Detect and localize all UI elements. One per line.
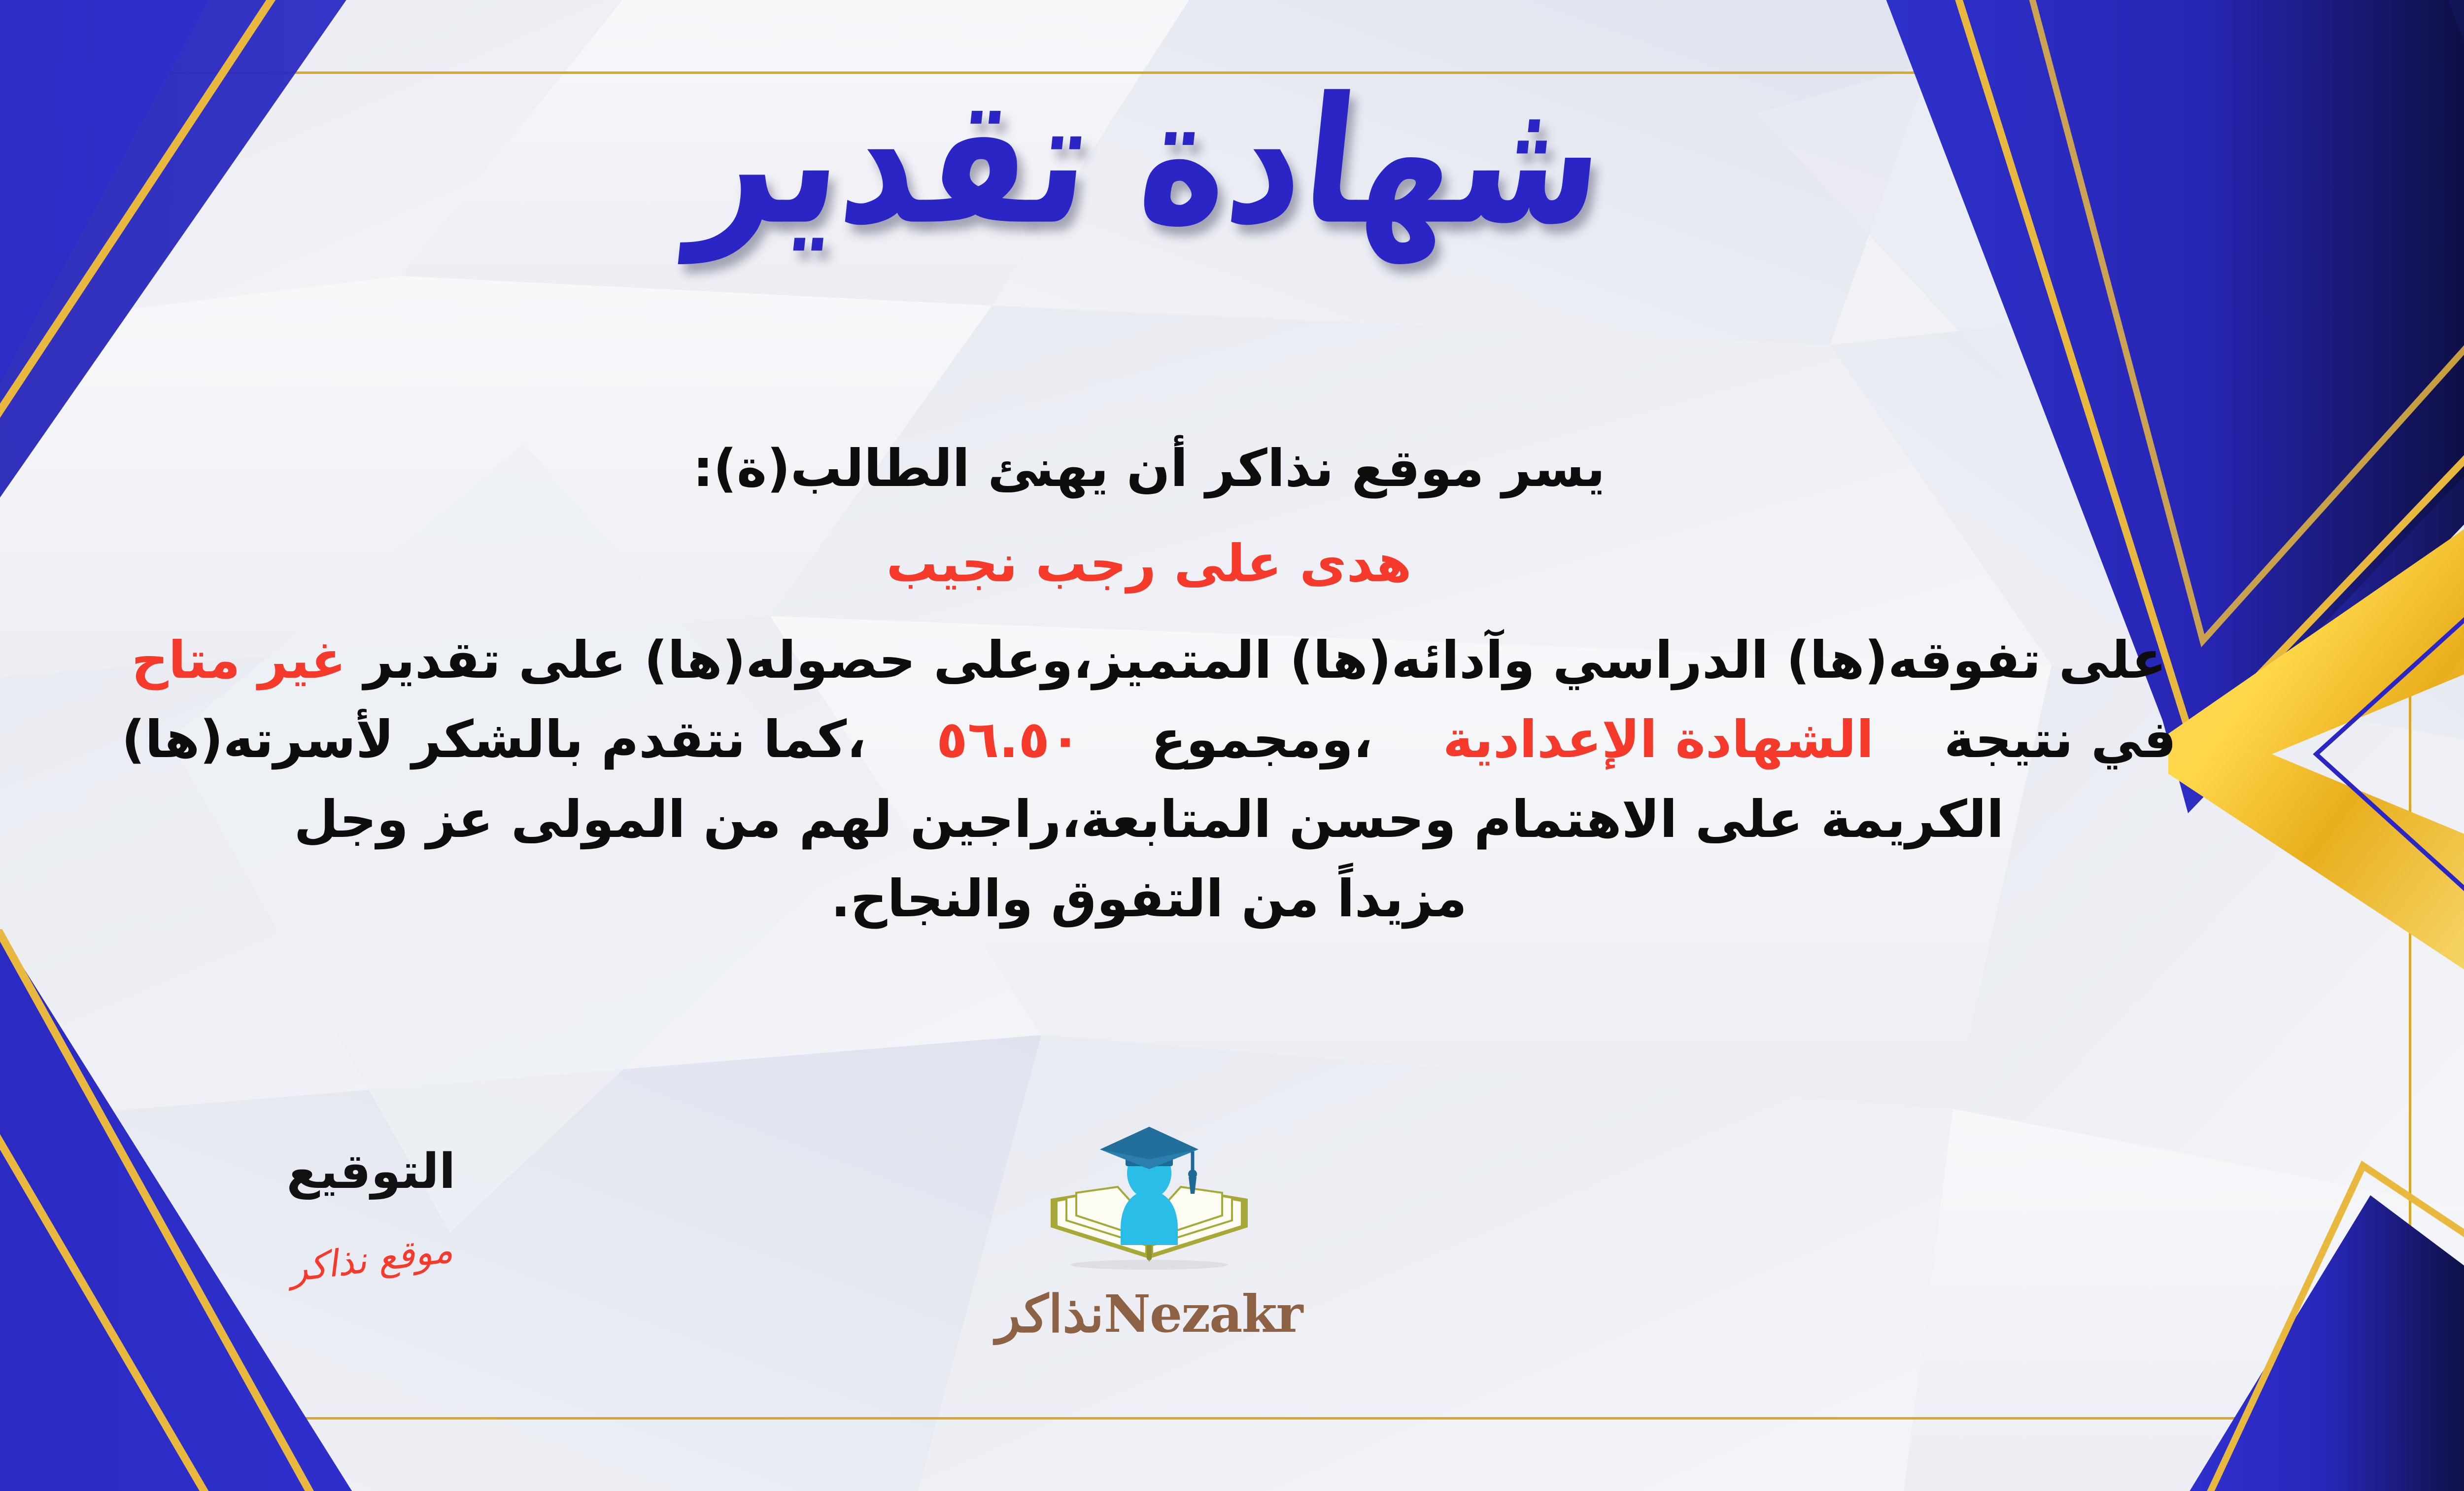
student-name: هدى على رجب نجيب: [0, 525, 2390, 602]
site-logo: Nezakrنذاكر: [0, 1124, 2464, 1344]
intro-line: يسر موقع نذاكر أن يهنئ الطالب(ة):: [0, 429, 2390, 508]
graduation-book-logo-icon: [1036, 1124, 1263, 1286]
grade-value: غير متاح: [132, 630, 346, 690]
certificate-canvas: شهادة تقدير يسر موقع نذاكر أن يهنئ الطال…: [0, 0, 2464, 1491]
logo-latin-name: Nezakr: [1104, 1283, 1302, 1344]
total-score-value: ٥٦.٥٠: [936, 709, 1081, 769]
exam-name-value: الشهادة الإعدادية: [1443, 709, 1874, 769]
total-label: ،ومجموع: [1151, 709, 1372, 769]
logo-arabic-name: نذاكر: [996, 1283, 1104, 1344]
certificate-body: يسر موقع نذاكر أن يهنئ الطالب(ة): هدى عل…: [0, 429, 2390, 938]
citation-line-2: في نتيجة الشهادة الإعدادية ،ومجموع ٥٦.٥٠…: [0, 700, 2390, 779]
exam-prefix-label: في نتيجة: [1944, 709, 2177, 769]
citation-line-3: الكريمة على الاهتمام وحسن المتابعة،راجين…: [0, 780, 2390, 859]
page-title: شهادة تقدير: [685, 70, 1612, 253]
citation-paragraph: على تفوقه(ها) الدراسي وآدائه(ها) المتميز…: [0, 621, 2390, 938]
citation-line-1: على تفوقه(ها) الدراسي وآدائه(ها) المتميز…: [0, 621, 2390, 700]
certificate-title-area: شهادة تقدير: [0, 84, 2464, 239]
citation-line-1-text: على تفوقه(ها) الدراسي وآدائه(ها) المتميز…: [364, 630, 2166, 690]
logo-wordmark: Nezakrنذاكر: [0, 1283, 2464, 1344]
citation-line-4: مزيداً من التفوق والنجاح.: [0, 859, 2390, 938]
thanks-text: ،كما نتقدم بالشكر لأسرته(ها): [122, 709, 866, 769]
